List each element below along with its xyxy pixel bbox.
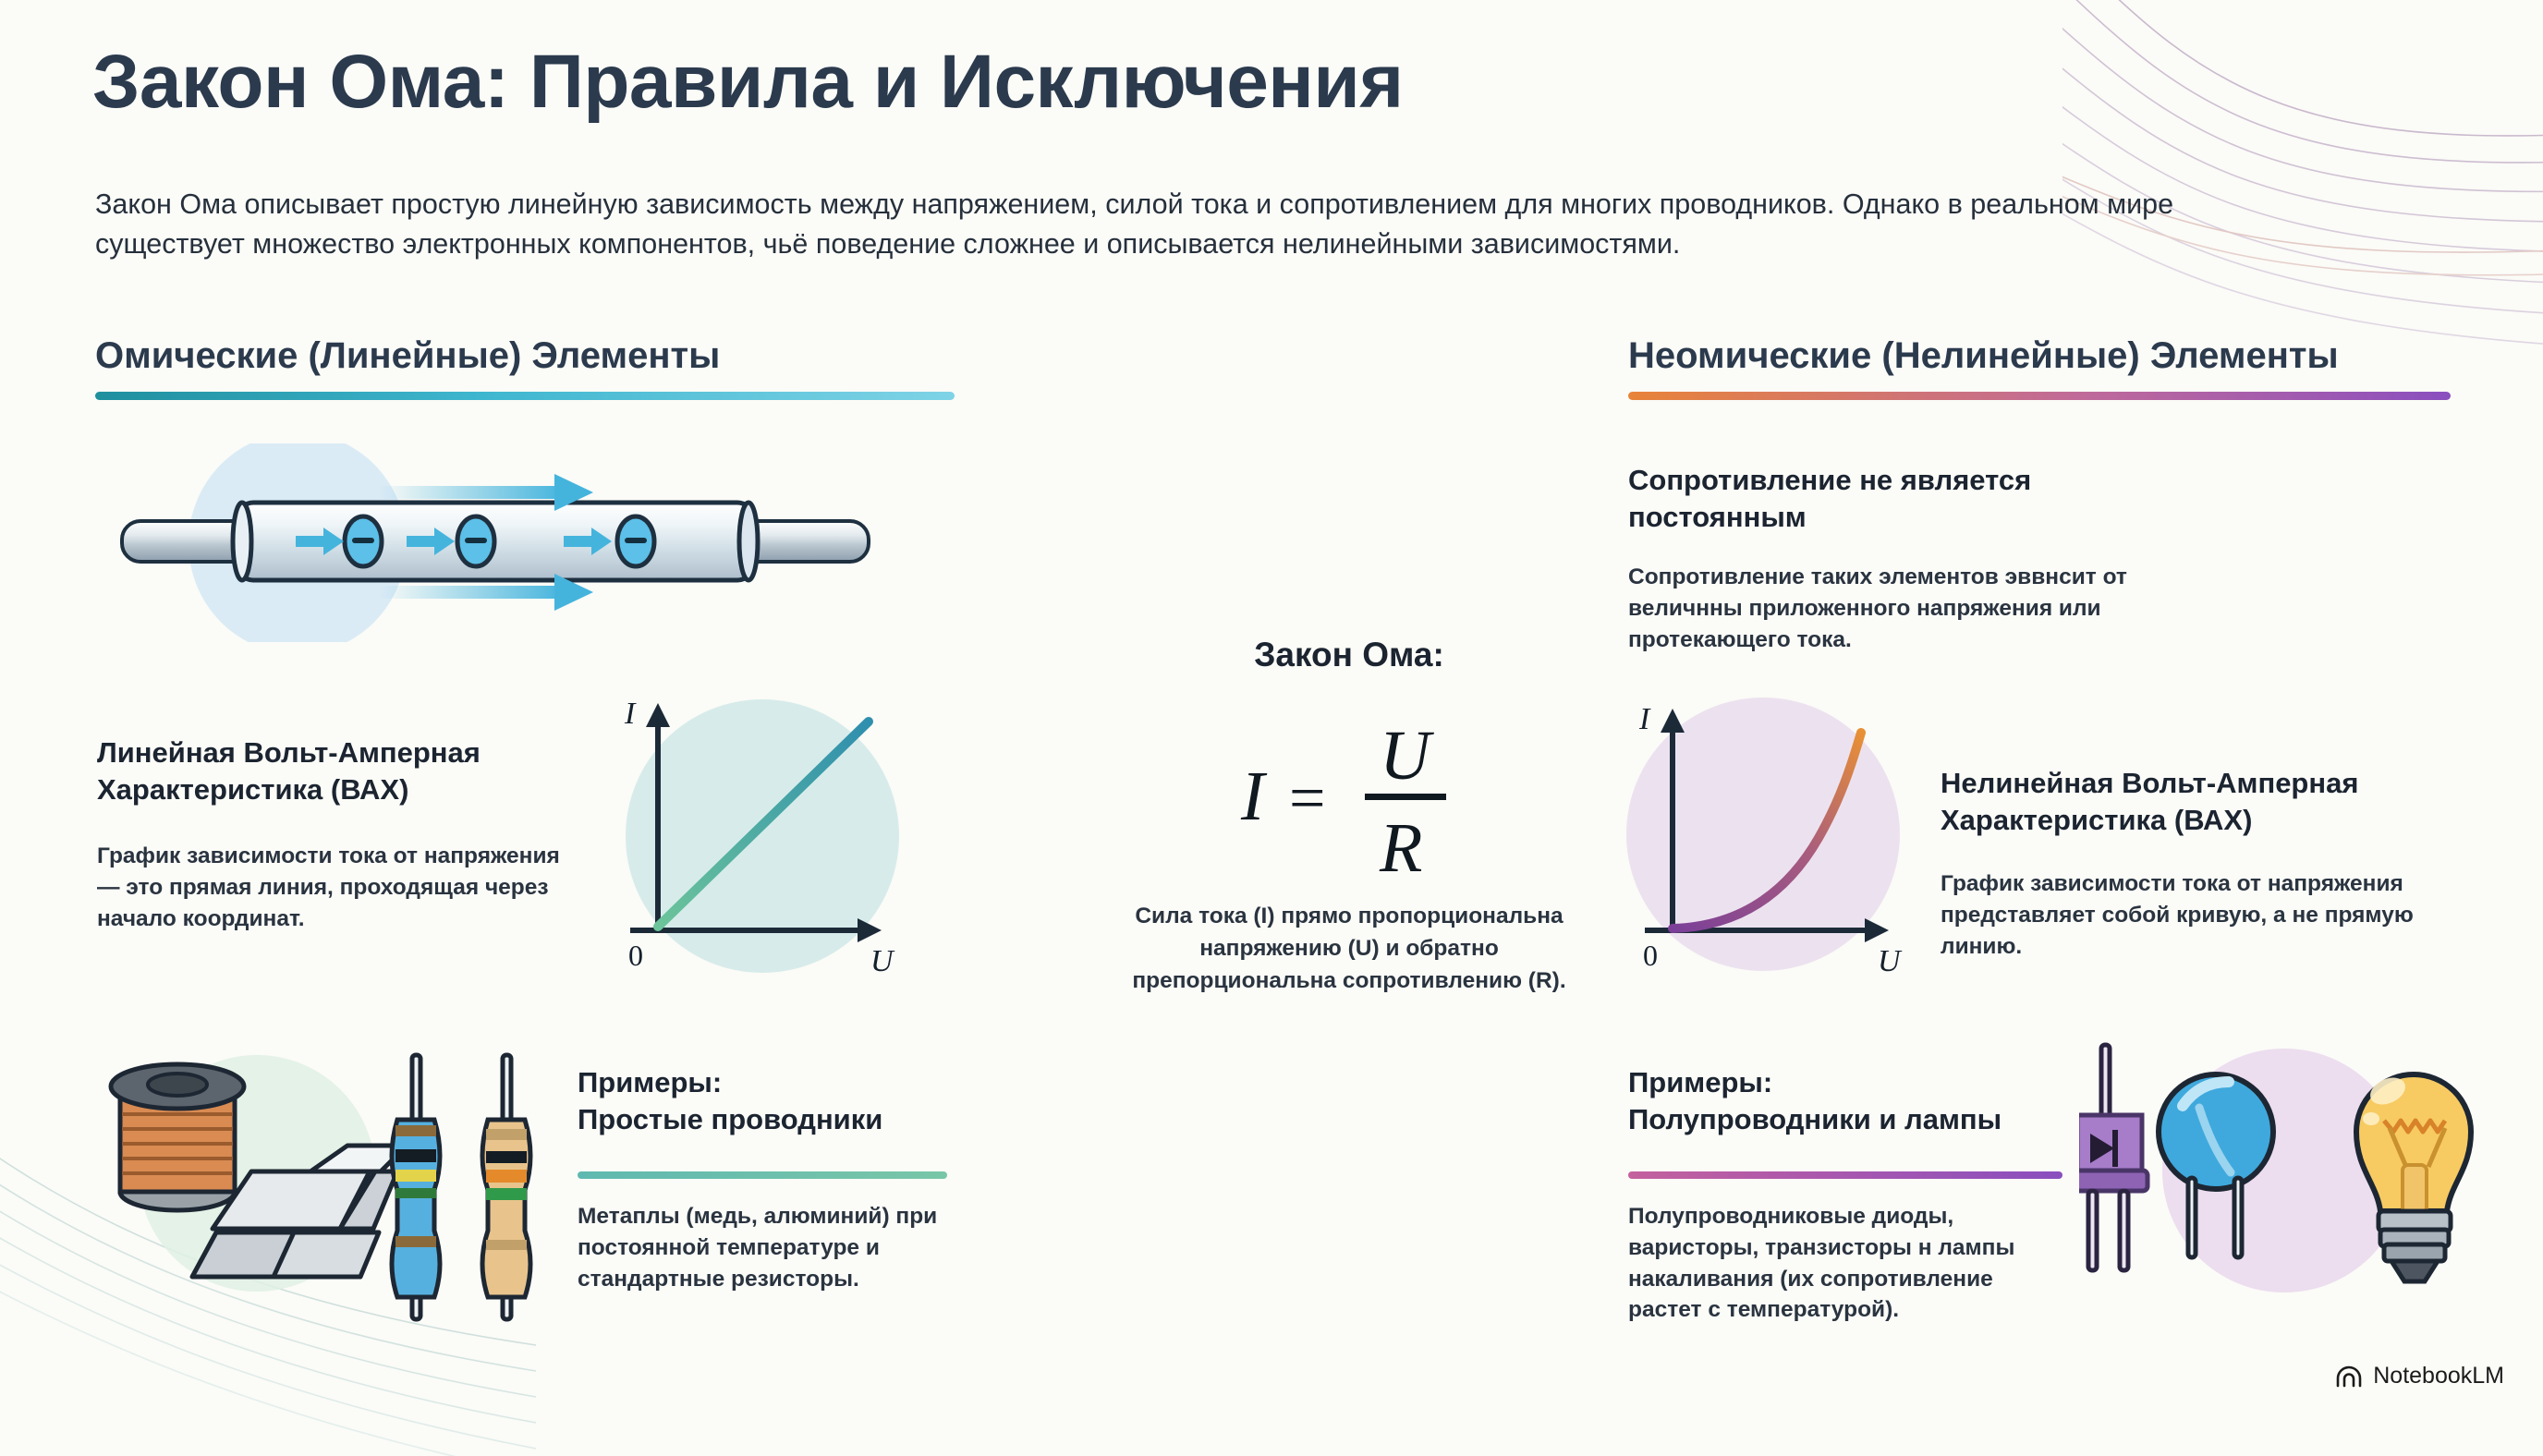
conductor-illustration xyxy=(102,443,887,642)
infographic-canvas: Закон Ома: Правила и Исключения Закон Ом… xyxy=(0,0,2543,1419)
x-axis-label: U xyxy=(870,944,895,978)
ohms-law-title: Закон Ома: xyxy=(1150,636,1548,674)
electron-icon xyxy=(457,516,494,566)
x-axis-arrow-icon xyxy=(1865,918,1889,942)
y-axis-arrow-icon xyxy=(646,703,670,727)
formula-denominator: R xyxy=(1379,809,1422,882)
ohmic-examples-rule xyxy=(578,1171,947,1179)
resistance-not-constant-title: Сопротивление не является постоянным xyxy=(1628,462,2062,537)
electron-icon xyxy=(617,516,654,566)
diode-icon xyxy=(2079,1045,2148,1270)
page-title: Закон Ома: Правила и Исключения xyxy=(92,39,1404,126)
non-ohmic-examples-value: Полупроводники и лампы xyxy=(1628,1103,2002,1135)
linear-vac-title: Линейная Вольт-Амперная Характеристика (… xyxy=(97,734,601,809)
x-axis-label: U xyxy=(1878,944,1903,978)
section-rule-non-ohmic xyxy=(1628,392,2451,400)
non-ohmic-examples-title: Примеры: Полупроводники и лампы xyxy=(1628,1064,2002,1139)
ohmic-examples-label: Примеры: xyxy=(578,1066,722,1098)
resistance-not-constant-body: Сопротивление таких элементов эввнсит от… xyxy=(1628,562,2132,655)
electron-icon xyxy=(345,516,382,566)
page-subtitle: Закон Ома описывает простую линейную зав… xyxy=(95,185,2304,265)
x-axis-arrow-icon xyxy=(858,918,882,942)
nonlinear-vac-title: Нелинейная Вольт-Амперная Характеристика… xyxy=(1941,765,2476,840)
resistor-icon xyxy=(482,1055,530,1319)
formula-current: I xyxy=(1240,758,1268,835)
linear-vac-graph: I U 0 xyxy=(601,688,906,984)
origin-label: 0 xyxy=(1643,939,1658,972)
ohmic-examples-value: Простые проводники xyxy=(578,1103,882,1135)
ohms-law-formula: I = U R xyxy=(1150,698,1548,887)
formula-numerator: U xyxy=(1380,717,1434,795)
non-ohmic-examples-rule xyxy=(1628,1171,2062,1179)
watermark-label: NotebookLM xyxy=(2373,1363,2504,1389)
non-ohmic-examples-label: Примеры: xyxy=(1628,1066,1772,1098)
origin-label: 0 xyxy=(628,939,643,972)
nonlinear-vac-body: График зависимости тока от напряжения пр… xyxy=(1941,868,2440,962)
non-ohmic-components-illustration xyxy=(2079,1030,2513,1349)
copper-wire-spool-icon xyxy=(111,1064,244,1210)
section-heading-non-ohmic: Неомические (Нелинейные) Элементы xyxy=(1628,335,2339,377)
ohms-law-description: Сила тока (I) прямо пропорциональна напр… xyxy=(1113,901,1585,997)
notebooklm-watermark: NotebookLM xyxy=(2335,1363,2504,1389)
ohmic-components-illustration xyxy=(92,1035,573,1349)
resistor-icon xyxy=(392,1055,440,1319)
section-heading-ohmic: Омические (Линейные) Элементы xyxy=(95,335,720,377)
linear-vac-body: График зависимости тока от напряжения — … xyxy=(97,841,578,934)
non-ohmic-examples-body: Полупроводниковые диоды, варисторы, тран… xyxy=(1628,1201,2072,1326)
y-axis-label: I xyxy=(1638,702,1651,736)
ohmic-examples-title: Примеры: Простые проводники xyxy=(578,1064,882,1139)
ohmic-examples-body: Метаплы (медь, алюминий) при постоянной … xyxy=(578,1201,984,1294)
formula-fraction-bar xyxy=(1365,794,1446,800)
y-axis-arrow-icon xyxy=(1661,709,1685,733)
formula-equals: = xyxy=(1289,763,1325,834)
y-axis-label: I xyxy=(624,697,637,731)
section-rule-ohmic xyxy=(95,392,955,400)
notebooklm-logo-icon xyxy=(2335,1365,2363,1389)
nonlinear-vac-graph: I U 0 xyxy=(1615,688,1920,984)
